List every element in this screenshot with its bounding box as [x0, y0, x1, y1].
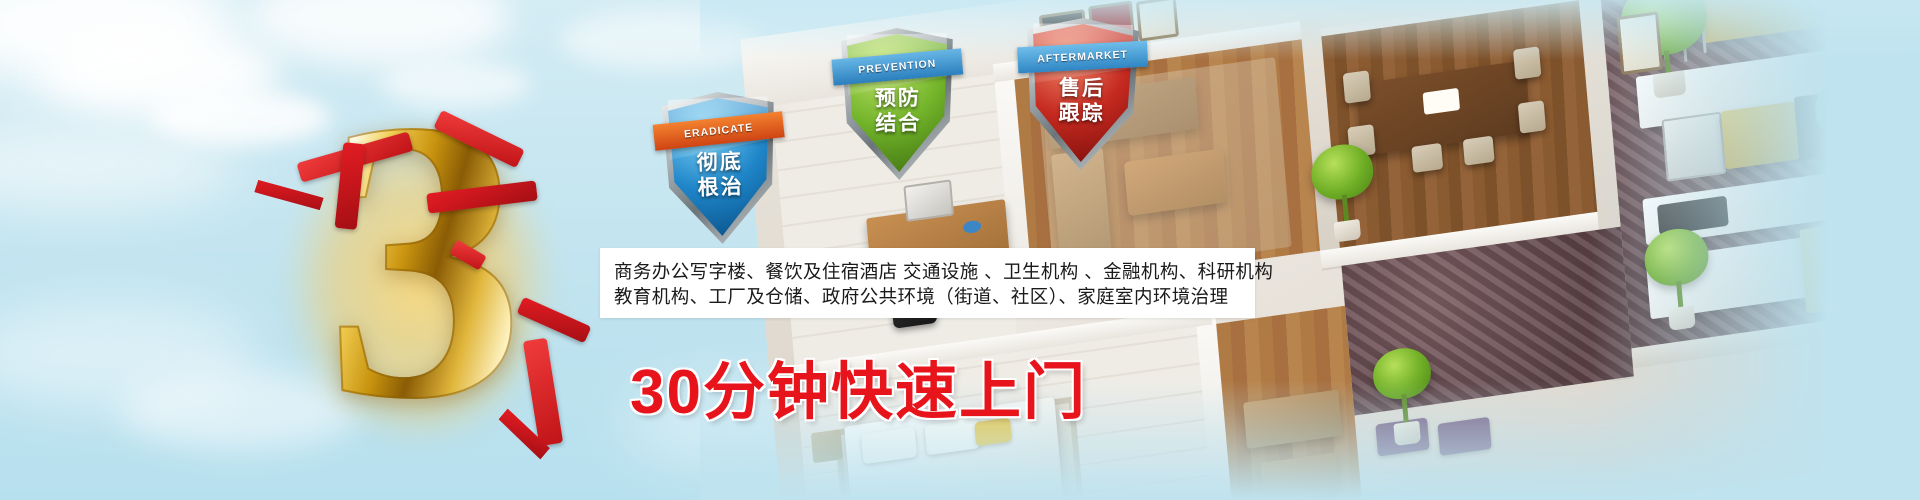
badge-cn-line1: 预防 [842, 85, 954, 112]
service-scope-line1: 商务办公写字楼、餐饮及住宿酒店 交通设施 、卫生机构 、金融机构、科研机构 [614, 259, 1241, 284]
hero-number-3: 3 [245, 95, 605, 465]
plant-icon [1812, 70, 1894, 180]
badge-cn-text: 预防 结合 [842, 85, 955, 137]
badge-cn-line1: 售后 [1026, 75, 1138, 102]
badge-sash-label: ERADICATE [684, 121, 754, 140]
service-scope-card: 商务办公写字楼、餐饮及住宿酒店 交通设施 、卫生机构 、金融机构、科研机构 教育… [600, 248, 1255, 318]
plant-icon [1307, 140, 1381, 245]
badge-cn-text: 彻底 根治 [663, 148, 777, 202]
badge-prevention: PREVENTION 预防 结合 [841, 27, 956, 181]
badge-cn-line2: 跟踪 [1025, 100, 1137, 127]
badge-aftermarket: AFTERMARKET 售后 跟踪 [1025, 17, 1140, 171]
service-scope-line2: 教育机构、工厂及仓储、政府公共环境（街道、社区）、家庭室内环境治理 [614, 284, 1241, 309]
plant-icon [1367, 344, 1441, 449]
badge-sash-label: AFTERMARKET [1037, 49, 1128, 66]
plant-icon [1639, 224, 1717, 333]
badge-cn-text: 售后 跟踪 [1025, 75, 1138, 127]
badge-cn-line2: 根治 [664, 173, 777, 202]
promo-banner: 3 ERADICATE 彻底 根治 PREVENTION 预防 [0, 0, 1920, 500]
badge-sash-label: PREVENTION [858, 58, 937, 77]
badge-cn-line2: 结合 [842, 110, 954, 137]
headline-text: 30分钟快速上门 [630, 358, 1087, 428]
badge-eradicate: ERADICATE 彻底 根治 [661, 90, 778, 246]
